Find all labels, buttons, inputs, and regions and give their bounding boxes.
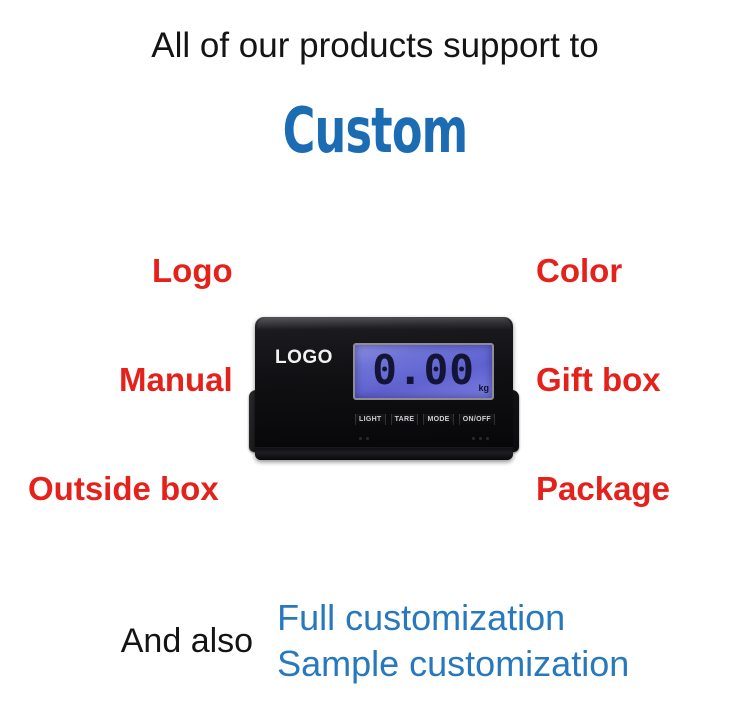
scale-mark-group-right <box>472 437 489 440</box>
custom-heading: Custom <box>75 96 675 166</box>
lcd-weight-value: 0.00 <box>372 348 475 393</box>
scale-brand-logo-text: LOGO <box>275 347 333 369</box>
footer-customization-block: And also Full customization Sample custo… <box>0 586 750 696</box>
scale-mark-dot <box>366 437 369 440</box>
page-title: All of our products support to <box>0 24 750 68</box>
footer-customization-list: Full customization Sample customization <box>277 595 629 687</box>
scale-button-on-off[interactable]: ON/OFF <box>459 414 495 425</box>
scale-button-tare[interactable]: TARE <box>391 414 419 425</box>
scale-mark-dot <box>472 437 475 440</box>
scale-mark-dot <box>486 437 489 440</box>
promo-banner: All of our products support to Custom Lo… <box>0 0 750 720</box>
feature-label-color: Color <box>536 252 622 290</box>
lcd-unit-label: kg <box>478 383 489 393</box>
scale-base-edge <box>255 447 513 460</box>
feature-label-gift-box: Gift box <box>536 361 661 399</box>
scale-button-light[interactable]: LIGHT <box>355 414 386 425</box>
footer-full-customization: Full customization <box>277 595 629 641</box>
feature-label-outside-box: Outside box <box>28 470 219 508</box>
scale-mark-dot <box>359 437 362 440</box>
scale-body: LOGO 0.00 kg LIGHT TARE MODE ON/OFF <box>255 317 513 460</box>
scale-top-highlight <box>257 318 511 330</box>
scale-lcd-display: 0.00 kg <box>353 343 494 400</box>
product-image-digital-scale: LOGO 0.00 kg LIGHT TARE MODE ON/OFF <box>255 317 513 465</box>
feature-label-logo: Logo <box>152 252 233 290</box>
scale-indicator-marks <box>359 434 489 442</box>
scale-button-mode[interactable]: MODE <box>423 414 453 425</box>
scale-button-row: LIGHT TARE MODE ON/OFF <box>355 411 495 428</box>
scale-mark-group-left <box>359 437 369 440</box>
feature-label-package: Package <box>536 470 670 508</box>
feature-label-manual: Manual <box>119 361 233 399</box>
footer-sample-customization: Sample customization <box>277 641 629 687</box>
scale-mark-dot <box>479 437 482 440</box>
footer-prefix-text: And also <box>121 621 253 661</box>
